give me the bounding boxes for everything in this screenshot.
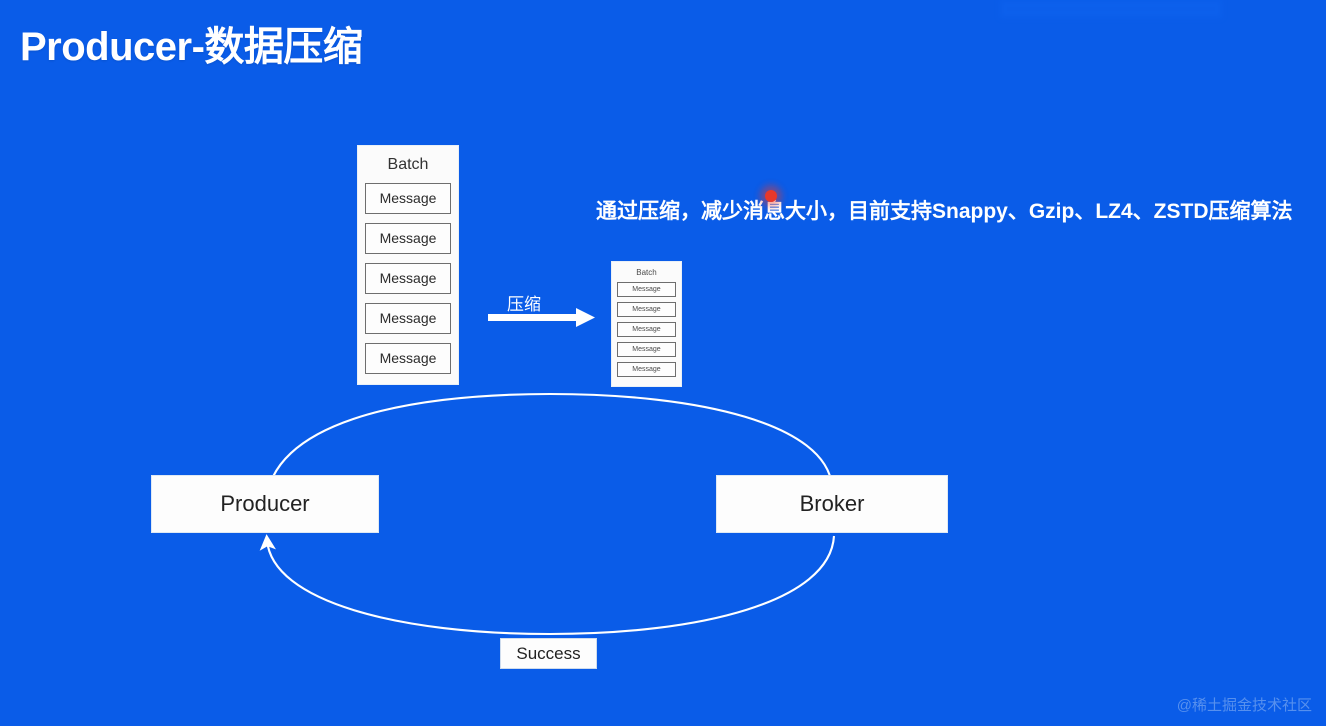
node-producer-label: Producer xyxy=(220,491,309,517)
record-dot-icon xyxy=(765,190,777,202)
node-success[interactable]: Success xyxy=(500,638,597,669)
node-broker[interactable]: Broker xyxy=(716,475,948,533)
message-box: Message xyxy=(617,322,676,337)
message-box: Message xyxy=(617,342,676,357)
node-producer[interactable]: Producer xyxy=(151,475,379,533)
batch-title: Batch xyxy=(617,262,676,278)
message-box: Message xyxy=(365,183,451,214)
node-broker-label: Broker xyxy=(800,491,865,517)
slide-canvas: Producer-数据压缩 通过压缩，减少消息大小，目前支持Snappy、Gzi… xyxy=(0,0,1326,726)
watermark: @稀土掘金技术社区 xyxy=(1177,694,1312,715)
message-box: Message xyxy=(617,302,676,317)
message-box: Message xyxy=(365,223,451,254)
page-title: Producer-数据压缩 xyxy=(20,14,362,72)
description-text: 通过压缩，减少消息大小，目前支持Snappy、Gzip、LZ4、ZSTD压缩算法 xyxy=(596,195,1293,225)
arrow-broker-to-producer xyxy=(267,536,834,634)
message-box: Message xyxy=(617,362,676,377)
message-box: Message xyxy=(365,343,451,374)
message-box: Message xyxy=(365,263,451,294)
message-box: Message xyxy=(617,282,676,297)
batch-box-compressed: Batch Message Message Message Message Me… xyxy=(611,261,682,387)
batch-box-original: Batch Message Message Message Message Me… xyxy=(357,145,459,385)
arrow-right-icon xyxy=(488,306,596,330)
message-box: Message xyxy=(365,303,451,334)
node-success-label: Success xyxy=(516,644,580,664)
background-artifact xyxy=(1000,0,1222,18)
batch-title: Batch xyxy=(365,146,451,176)
